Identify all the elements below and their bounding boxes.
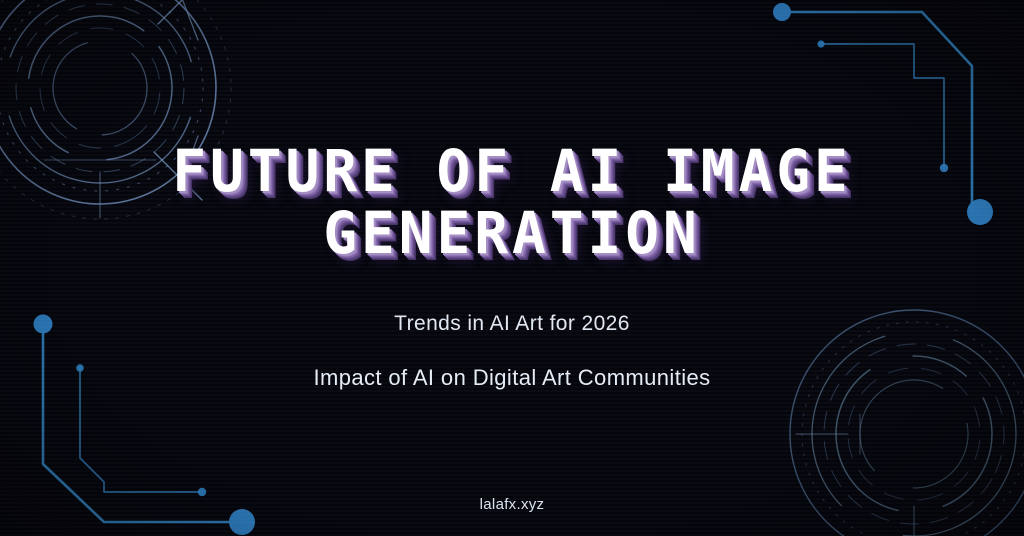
footer-website-url[interactable]: lalafx.xyz	[0, 496, 1024, 513]
title-line-2: GENERATION	[15, 202, 1008, 264]
subtitle-secondary: Impact of AI on Digital Art Communities	[313, 365, 710, 391]
scanline-overlay	[0, 0, 1024, 536]
page-title: FUTURE OF AI IMAGE GENERATION	[0, 140, 1024, 264]
poster-canvas: FUTURE OF AI IMAGE GENERATION Trends in …	[0, 0, 1024, 536]
vignette-overlay	[0, 0, 1024, 536]
subtitle-primary: Trends in AI Art for 2026	[394, 312, 630, 336]
title-line-1: FUTURE OF AI IMAGE	[15, 140, 1008, 202]
poster-content: FUTURE OF AI IMAGE GENERATION Trends in …	[0, 0, 1024, 536]
